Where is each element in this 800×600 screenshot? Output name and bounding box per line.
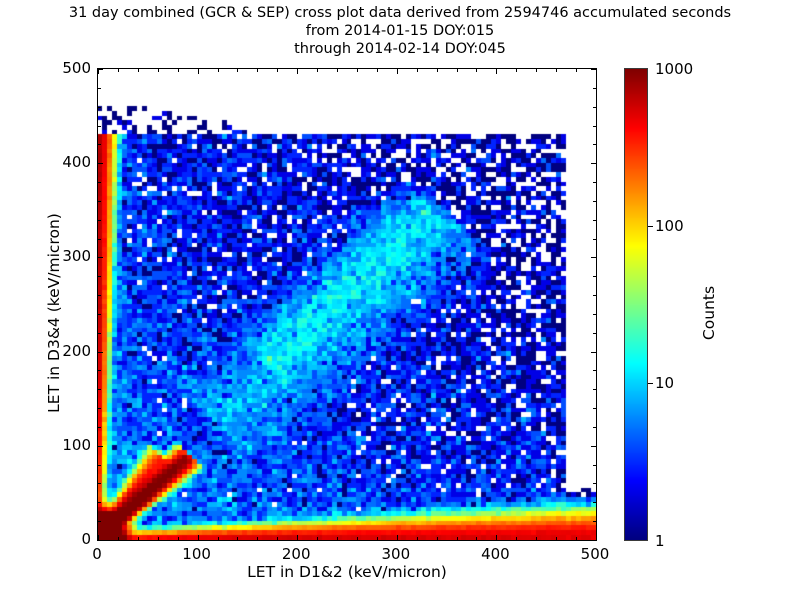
x-minor-tick-top	[158, 69, 159, 72]
y-minor-tick-right	[593, 314, 596, 315]
x-minor-tick	[377, 537, 378, 540]
y-minor-tick-right	[593, 389, 596, 390]
x-minor-tick	[337, 537, 338, 540]
x-minor-tick	[536, 537, 537, 540]
y-minor-tick-right	[593, 239, 596, 240]
y-minor-tick	[98, 483, 101, 484]
y-minor-tick-right	[593, 333, 596, 334]
y-minor-tick-right	[593, 126, 596, 127]
x-minor-tick-top	[536, 69, 537, 72]
figure-canvas: 31 day combined (GCR & SEP) cross plot d…	[0, 0, 800, 600]
x-minor-tick-top	[377, 69, 378, 72]
y-minor-tick-right	[593, 276, 596, 277]
y-minor-tick-right	[593, 201, 596, 202]
x-minor-tick	[178, 537, 179, 540]
y-tick-400	[98, 163, 103, 164]
scatter-density-plot	[98, 69, 596, 540]
y-minor-tick	[98, 295, 101, 296]
x-tick-label-200: 200	[282, 545, 311, 563]
plot-area	[97, 68, 597, 541]
x-minor-tick-top	[277, 69, 278, 72]
x-minor-tick-top	[437, 69, 438, 72]
x-minor-tick-top	[516, 69, 517, 72]
y-minor-tick	[98, 88, 101, 89]
x-minor-tick	[516, 537, 517, 540]
x-minor-tick-top	[457, 69, 458, 72]
x-minor-tick-top	[218, 69, 219, 72]
x-tick-top-400	[496, 69, 497, 74]
y-minor-tick-right	[593, 502, 596, 503]
x-minor-tick-top	[118, 69, 119, 72]
y-minor-tick-right	[593, 182, 596, 183]
y-minor-tick	[98, 408, 101, 409]
y-minor-tick	[98, 333, 101, 334]
x-tick-500	[596, 535, 597, 540]
x-minor-tick	[457, 537, 458, 540]
figure-title: 31 day combined (GCR & SEP) cross plot d…	[0, 4, 800, 58]
x-minor-tick-top	[337, 69, 338, 72]
colorbar-tick-label-1: 1	[655, 532, 665, 550]
colorbar-gradient	[624, 68, 648, 541]
x-tick-100	[198, 535, 199, 540]
colorbar-tick-100	[648, 226, 653, 227]
x-minor-tick-top	[178, 69, 179, 72]
y-minor-tick-right	[593, 521, 596, 522]
y-minor-tick	[98, 220, 101, 221]
x-minor-tick	[417, 537, 418, 540]
x-tick-label-300: 300	[381, 545, 410, 563]
x-minor-tick	[437, 537, 438, 540]
y-axis-label: LET in D3&4 (keV/micron)	[45, 193, 63, 433]
x-minor-tick	[237, 537, 238, 540]
y-minor-tick	[98, 314, 101, 315]
colorbar-tick-label-10: 10	[655, 374, 674, 392]
y-minor-tick-right	[593, 144, 596, 145]
y-tick-right-0	[591, 540, 596, 541]
y-tick-right-500	[591, 69, 596, 70]
x-minor-tick-top	[257, 69, 258, 72]
x-minor-tick	[317, 537, 318, 540]
y-minor-tick	[98, 144, 101, 145]
colorbar-tick-label-100: 100	[655, 217, 684, 235]
x-tick-top-300	[397, 69, 398, 74]
y-minor-tick-right	[593, 408, 596, 409]
x-axis-label: LET in D1&2 (keV/micron)	[97, 563, 597, 581]
x-tick-label-500: 500	[581, 545, 610, 563]
x-minor-tick	[158, 537, 159, 540]
x-tick-top-100	[198, 69, 199, 74]
y-minor-tick	[98, 126, 101, 127]
y-tick-100	[98, 446, 103, 447]
y-tick-200	[98, 352, 103, 353]
x-minor-tick-top	[556, 69, 557, 72]
x-minor-tick-top	[317, 69, 318, 72]
y-minor-tick	[98, 182, 101, 183]
y-minor-tick	[98, 502, 101, 503]
x-minor-tick-top	[476, 69, 477, 72]
y-minor-tick-right	[593, 88, 596, 89]
y-tick-0	[98, 540, 103, 541]
y-minor-tick	[98, 239, 101, 240]
y-tick-label-0: 0	[39, 530, 91, 548]
colorbar-label: Counts	[700, 223, 718, 403]
x-minor-tick	[476, 537, 477, 540]
x-minor-tick	[556, 537, 557, 540]
y-tick-label-100: 100	[39, 436, 91, 454]
x-minor-tick	[138, 537, 139, 540]
x-tick-top-200	[297, 69, 298, 74]
title-line-1: 31 day combined (GCR & SEP) cross plot d…	[0, 4, 800, 22]
y-tick-right-100	[591, 446, 596, 447]
colorbar: 1000100101	[624, 68, 648, 541]
y-minor-tick-right	[593, 295, 596, 296]
colorbar-tick-label-1000: 1000	[655, 60, 693, 78]
title-line-2: from 2014-01-15 DOY:015	[0, 22, 800, 40]
x-tick-300	[397, 535, 398, 540]
x-minor-tick-top	[576, 69, 577, 72]
x-tick-label-0: 0	[92, 545, 102, 563]
y-minor-tick-right	[593, 107, 596, 108]
y-minor-tick	[98, 465, 101, 466]
y-tick-300	[98, 257, 103, 258]
x-tick-400	[496, 535, 497, 540]
y-minor-tick-right	[593, 370, 596, 371]
y-tick-right-200	[591, 352, 596, 353]
y-tick-label-500: 500	[39, 59, 91, 77]
y-minor-tick	[98, 107, 101, 108]
y-minor-tick	[98, 201, 101, 202]
x-minor-tick	[357, 537, 358, 540]
title-line-3: through 2014-02-14 DOY:045	[0, 40, 800, 58]
x-minor-tick	[218, 537, 219, 540]
x-minor-tick-top	[138, 69, 139, 72]
y-minor-tick-right	[593, 465, 596, 466]
x-tick-label-100: 100	[182, 545, 211, 563]
y-minor-tick-right	[593, 220, 596, 221]
x-minor-tick	[118, 537, 119, 540]
y-minor-tick	[98, 389, 101, 390]
x-minor-tick-top	[357, 69, 358, 72]
x-minor-tick	[576, 537, 577, 540]
x-minor-tick	[277, 537, 278, 540]
y-minor-tick	[98, 370, 101, 371]
x-minor-tick-top	[417, 69, 418, 72]
y-minor-tick	[98, 276, 101, 277]
y-minor-tick-right	[593, 483, 596, 484]
colorbar-tick-10	[648, 383, 653, 384]
x-tick-label-400: 400	[481, 545, 510, 563]
x-tick-200	[297, 535, 298, 540]
y-tick-500	[98, 69, 103, 70]
y-tick-right-300	[591, 257, 596, 258]
y-minor-tick	[98, 427, 101, 428]
x-minor-tick-top	[237, 69, 238, 72]
y-tick-right-400	[591, 163, 596, 164]
y-minor-tick	[98, 521, 101, 522]
y-minor-tick-right	[593, 427, 596, 428]
y-tick-label-400: 400	[39, 153, 91, 171]
x-tick-top-500	[596, 69, 597, 74]
x-minor-tick	[257, 537, 258, 540]
